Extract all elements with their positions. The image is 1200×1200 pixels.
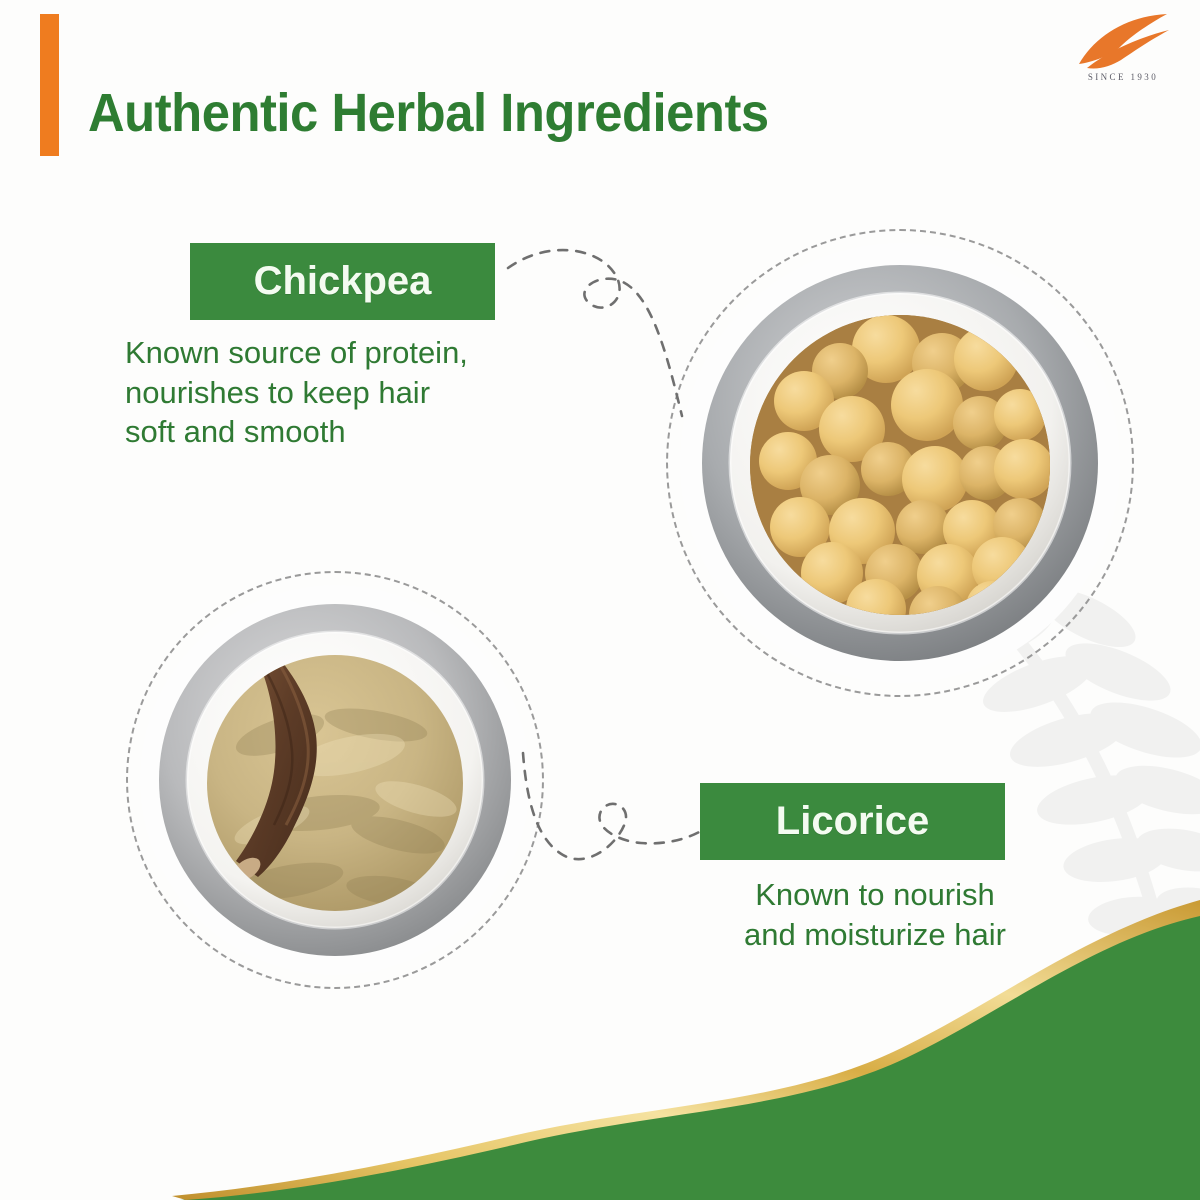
page-title: Authentic Herbal Ingredients <box>88 82 769 144</box>
ingredient-description-chickpea: Known source of protein, nourishes to ke… <box>125 333 585 452</box>
ingredient-badge-label: Chickpea <box>254 259 432 304</box>
accent-bar <box>40 14 59 156</box>
poster-canvas: Authentic Herbal Ingredients SINCE 1930 <box>0 0 1200 1200</box>
bottom-wave-decoration <box>0 900 1200 1200</box>
brand-since-text: SINCE 1930 <box>1068 72 1178 82</box>
ingredient-badge-licorice[interactable]: Licorice <box>700 783 1005 860</box>
ingredient-badge-label: Licorice <box>776 799 929 844</box>
ingredient-badge-chickpea[interactable]: Chickpea <box>190 243 495 320</box>
brand-logo: SINCE 1930 <box>1068 12 1178 100</box>
leaf-flame-logo-icon <box>1075 12 1171 70</box>
chickpea-photo <box>680 243 1120 683</box>
